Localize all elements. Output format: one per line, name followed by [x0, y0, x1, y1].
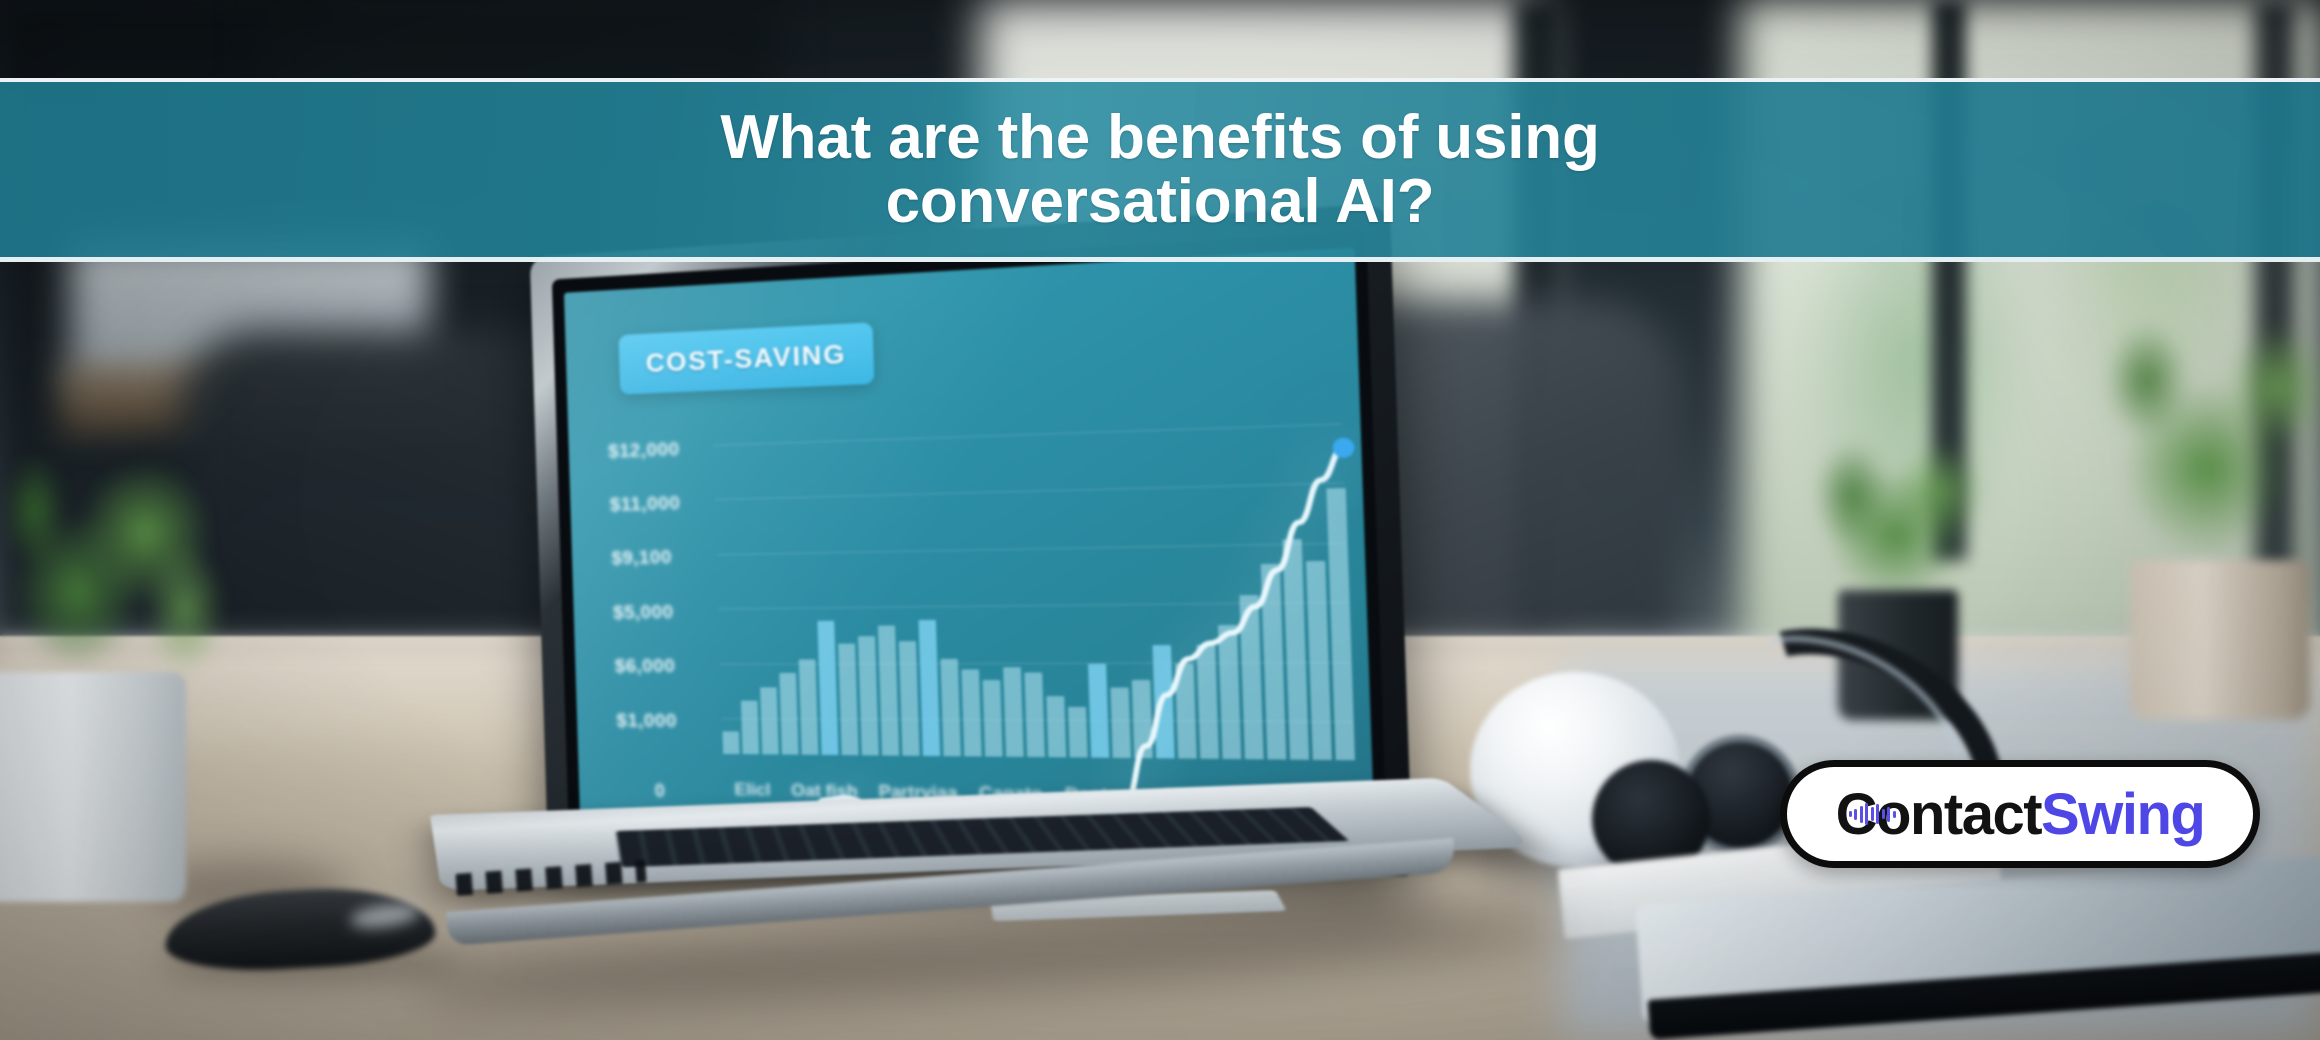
- chart-plot-area: [714, 427, 1355, 761]
- chart-y-tick-label: $1,000: [616, 710, 677, 733]
- chart-y-zero-label: 0: [654, 781, 665, 802]
- logo-name-primary: ontact: [1876, 781, 2041, 848]
- laptop-screen: COST-SAVING $12,000$11,000$9,100$5,000$6…: [564, 248, 1375, 845]
- chart-y-tick-label: $9,100: [611, 547, 672, 570]
- logo-wordmark: C ontact Swing: [1836, 781, 2205, 848]
- potted-plant-left-leaves: [0, 430, 240, 700]
- laptop: COST-SAVING $12,000$11,000$9,100$5,000$6…: [520, 255, 1420, 955]
- logo-name-accent: Swing: [2041, 781, 2204, 848]
- audio-waveform-icon: [1849, 803, 1896, 825]
- cost-saving-chart: COST-SAVING $12,000$11,000$9,100$5,000$6…: [564, 248, 1375, 845]
- page-title-line-1: What are the benefits of using: [720, 103, 1599, 172]
- logo-c-letter: C: [1836, 781, 1876, 848]
- potted-plant-far-right-leaves: [2090, 300, 2320, 590]
- laptop-bezel: COST-SAVING $12,000$11,000$9,100$5,000$6…: [552, 231, 1388, 856]
- banner-image: COST-SAVING $12,000$11,000$9,100$5,000$6…: [0, 0, 2320, 1040]
- chart-y-tick-label: $5,000: [613, 602, 674, 625]
- potted-plant-left-pot: [0, 672, 186, 902]
- chart-y-tick-label: $11,000: [609, 493, 680, 517]
- page-title-line-2: conversational AI?: [886, 167, 1435, 236]
- potted-plant-far-right-pot: [2130, 560, 2310, 720]
- headline-banner: What are the benefits of using conversat…: [0, 78, 2320, 262]
- laptop-lid: COST-SAVING $12,000$11,000$9,100$5,000$6…: [530, 203, 1413, 877]
- chart-y-tick-label: $6,000: [614, 656, 675, 678]
- chart-x-tick-label: Elicl: [734, 780, 771, 801]
- cost-saving-badge: COST-SAVING: [619, 323, 875, 395]
- chart-y-tick-label: $12,000: [608, 438, 680, 463]
- page-title: What are the benefits of using conversat…: [720, 106, 1599, 234]
- contactswing-logo[interactable]: C ontact Swing: [1780, 760, 2260, 868]
